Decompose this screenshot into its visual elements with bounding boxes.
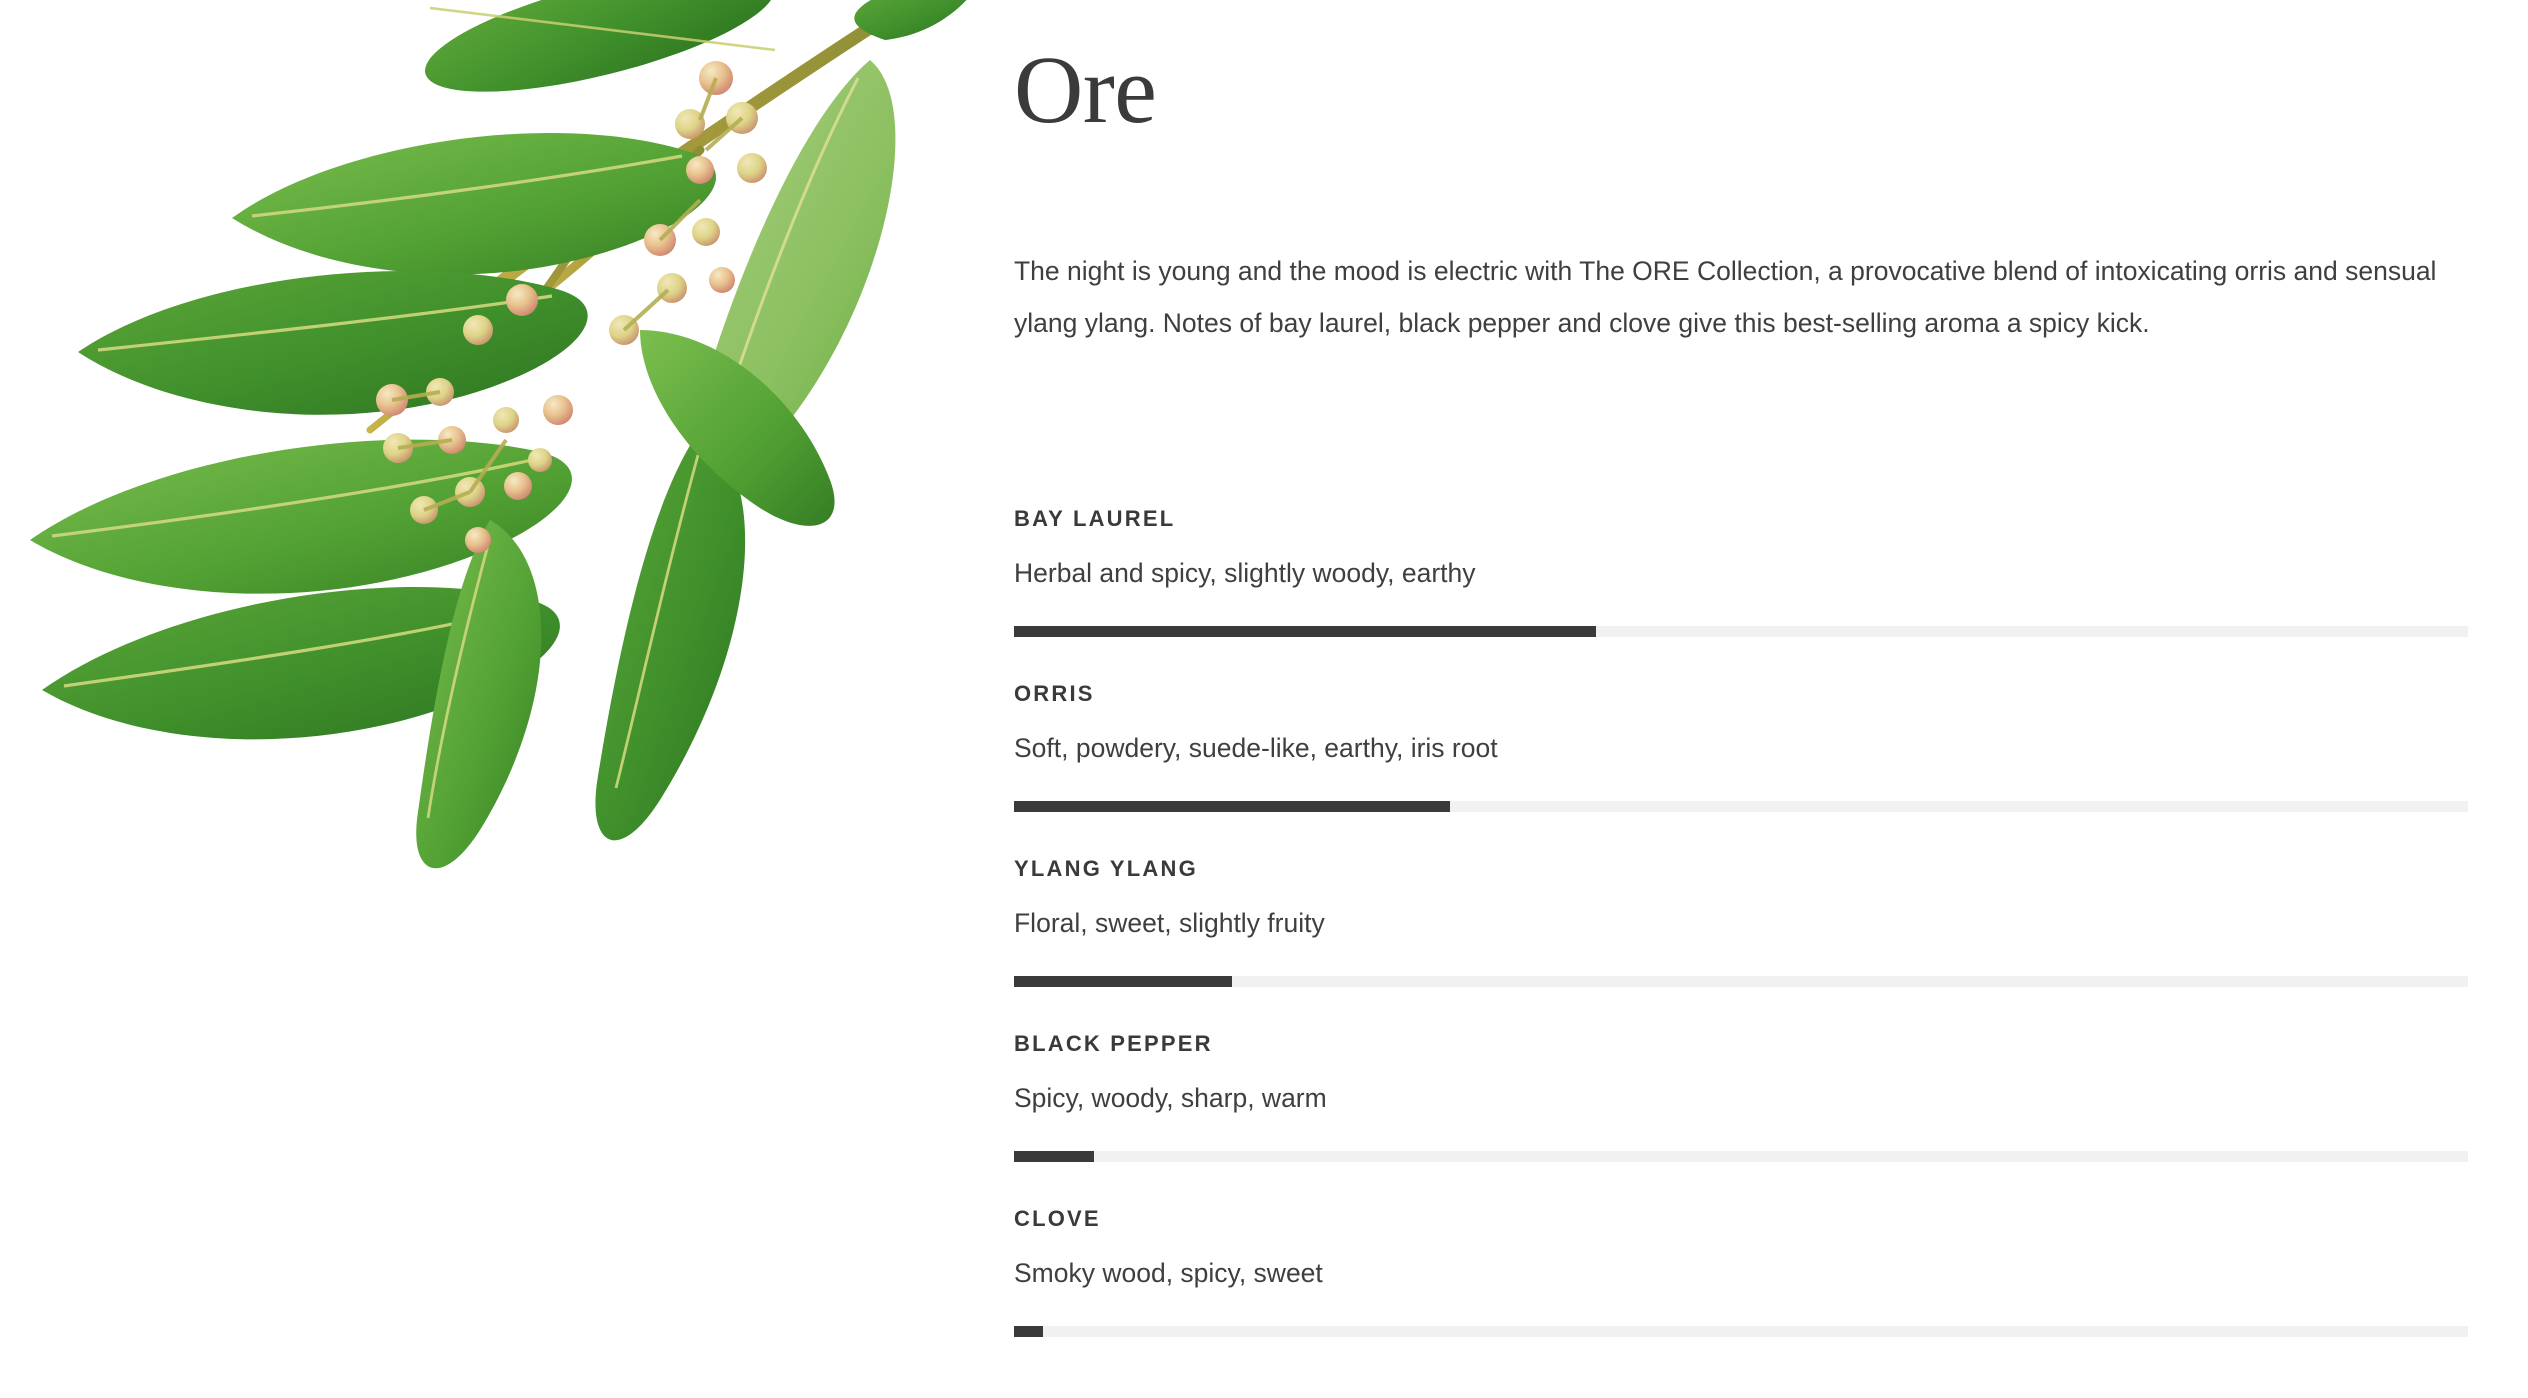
list-item: Ylang Ylang Floral, sweet, slightly frui… bbox=[1014, 842, 2468, 1017]
note-name: Clove bbox=[1014, 1192, 2468, 1230]
note-name: Ylang Ylang bbox=[1014, 842, 2468, 880]
note-name: Black Pepper bbox=[1014, 1017, 2468, 1055]
note-name: Orris bbox=[1014, 667, 2468, 705]
product-info-column: Ore The night is young and the mood is e… bbox=[1014, 0, 2528, 1398]
note-intensity-meter bbox=[1014, 976, 2468, 987]
note-intensity-fill bbox=[1014, 976, 1232, 987]
page-title: Ore bbox=[1014, 42, 1156, 138]
product-image-column bbox=[0, 0, 1014, 1398]
fragrance-notes-list: Bay Laurel Herbal and spicy, slightly wo… bbox=[1014, 492, 2468, 1367]
note-intensity-fill bbox=[1014, 626, 1596, 637]
note-description: Soft, powdery, suede-like, earthy, iris … bbox=[1014, 705, 2468, 762]
note-description: Floral, sweet, slightly fruity bbox=[1014, 880, 2468, 937]
product-description: The night is young and the mood is elect… bbox=[1014, 245, 2474, 349]
note-intensity-fill bbox=[1014, 1326, 1043, 1337]
note-intensity-meter bbox=[1014, 1151, 2468, 1162]
note-intensity-meter bbox=[1014, 626, 2468, 637]
list-item: Black Pepper Spicy, woody, sharp, warm bbox=[1014, 1017, 2468, 1192]
note-intensity-meter bbox=[1014, 801, 2468, 812]
note-intensity-meter bbox=[1014, 1326, 2468, 1337]
product-detail-page: Ore The night is young and the mood is e… bbox=[0, 0, 2528, 1398]
note-name: Bay Laurel bbox=[1014, 492, 2468, 530]
bay-laurel-branch-photo bbox=[0, 0, 1014, 880]
note-intensity-fill bbox=[1014, 1151, 1094, 1162]
list-item: Clove Smoky wood, spicy, sweet bbox=[1014, 1192, 2468, 1367]
list-item: Bay Laurel Herbal and spicy, slightly wo… bbox=[1014, 492, 2468, 667]
note-intensity-fill bbox=[1014, 801, 1450, 812]
list-item: Orris Soft, powdery, suede-like, earthy,… bbox=[1014, 667, 2468, 842]
note-description: Spicy, woody, sharp, warm bbox=[1014, 1055, 2468, 1112]
note-description: Smoky wood, spicy, sweet bbox=[1014, 1230, 2468, 1287]
note-description: Herbal and spicy, slightly woody, earthy bbox=[1014, 530, 2468, 587]
